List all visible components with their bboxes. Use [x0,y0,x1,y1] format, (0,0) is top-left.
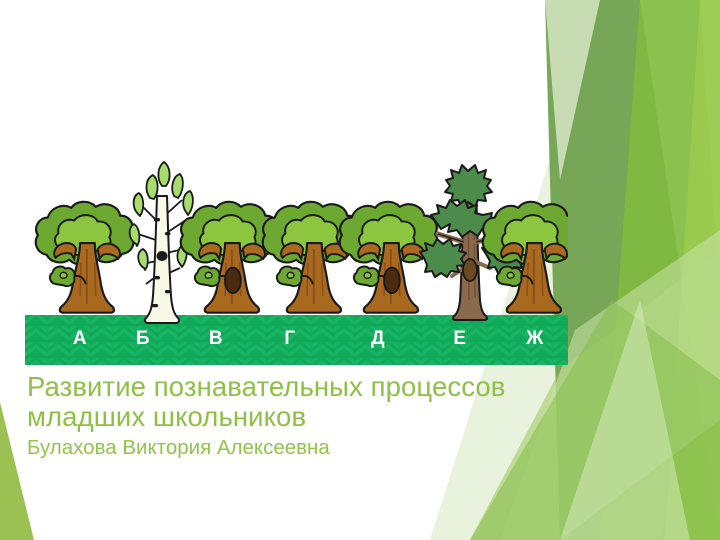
tree-zh-oak [483,202,568,313]
tree-v-oak-hollow [181,202,279,313]
hairline-upper [570,0,640,128]
ground-letter-e: Е [445,329,475,349]
page-title[interactable]: Развитие познавательных процессов младши… [27,372,647,432]
light-green-polygon [665,0,720,540]
ground-letter-g: Г [275,329,305,349]
ground-letter-b: Б [128,329,158,349]
ground-letter-zh: Ж [520,329,550,349]
ground-letter-d: Д [363,329,393,349]
ground-letter-v: В [201,329,231,349]
title-line-2: младших школьников [27,402,647,432]
presentation-slide: А Б В Г Д Е Ж Развитие познавательных пр… [0,0,720,540]
pine-hollow [463,259,477,281]
ground-letter-a: А [65,329,95,349]
title-line-1: Развитие познавательных процессов [27,371,505,402]
author-subtitle[interactable]: Булахова Виктория Алексеевна [27,435,647,461]
ground-letter-labels: А Б В Г Д Е Ж [25,315,568,365]
tree-a-oak [36,202,134,313]
slide-text-block: Развитие познавательных процессов младши… [27,372,647,461]
